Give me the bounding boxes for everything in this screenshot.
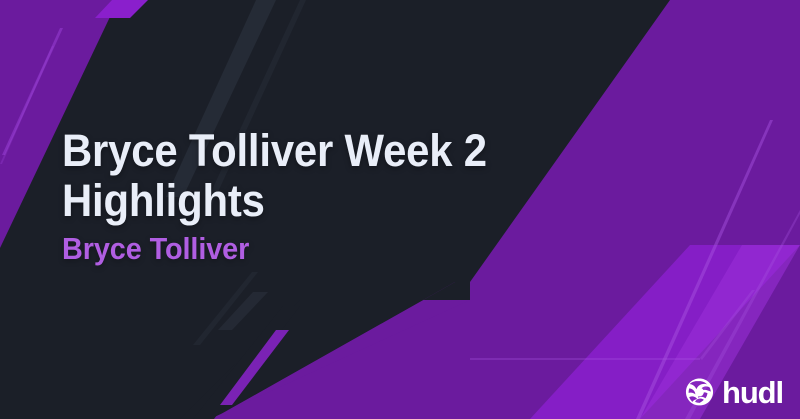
text-block: Bryce Tolliver Week 2 Highlights Bryce T… [62, 126, 582, 266]
video-thumbnail-card: Bryce Tolliver Week 2 Highlights Bryce T… [0, 0, 800, 419]
hudl-wordmark: hudl [722, 377, 783, 408]
athlete-name-subtitle: Bryce Tolliver [62, 232, 546, 266]
purple-hairline-3 [470, 358, 700, 360]
hudl-swirl-icon [684, 377, 715, 408]
hudl-logo[interactable]: hudl [684, 377, 783, 408]
page-title: Bryce Tolliver Week 2 Highlights [62, 126, 546, 226]
